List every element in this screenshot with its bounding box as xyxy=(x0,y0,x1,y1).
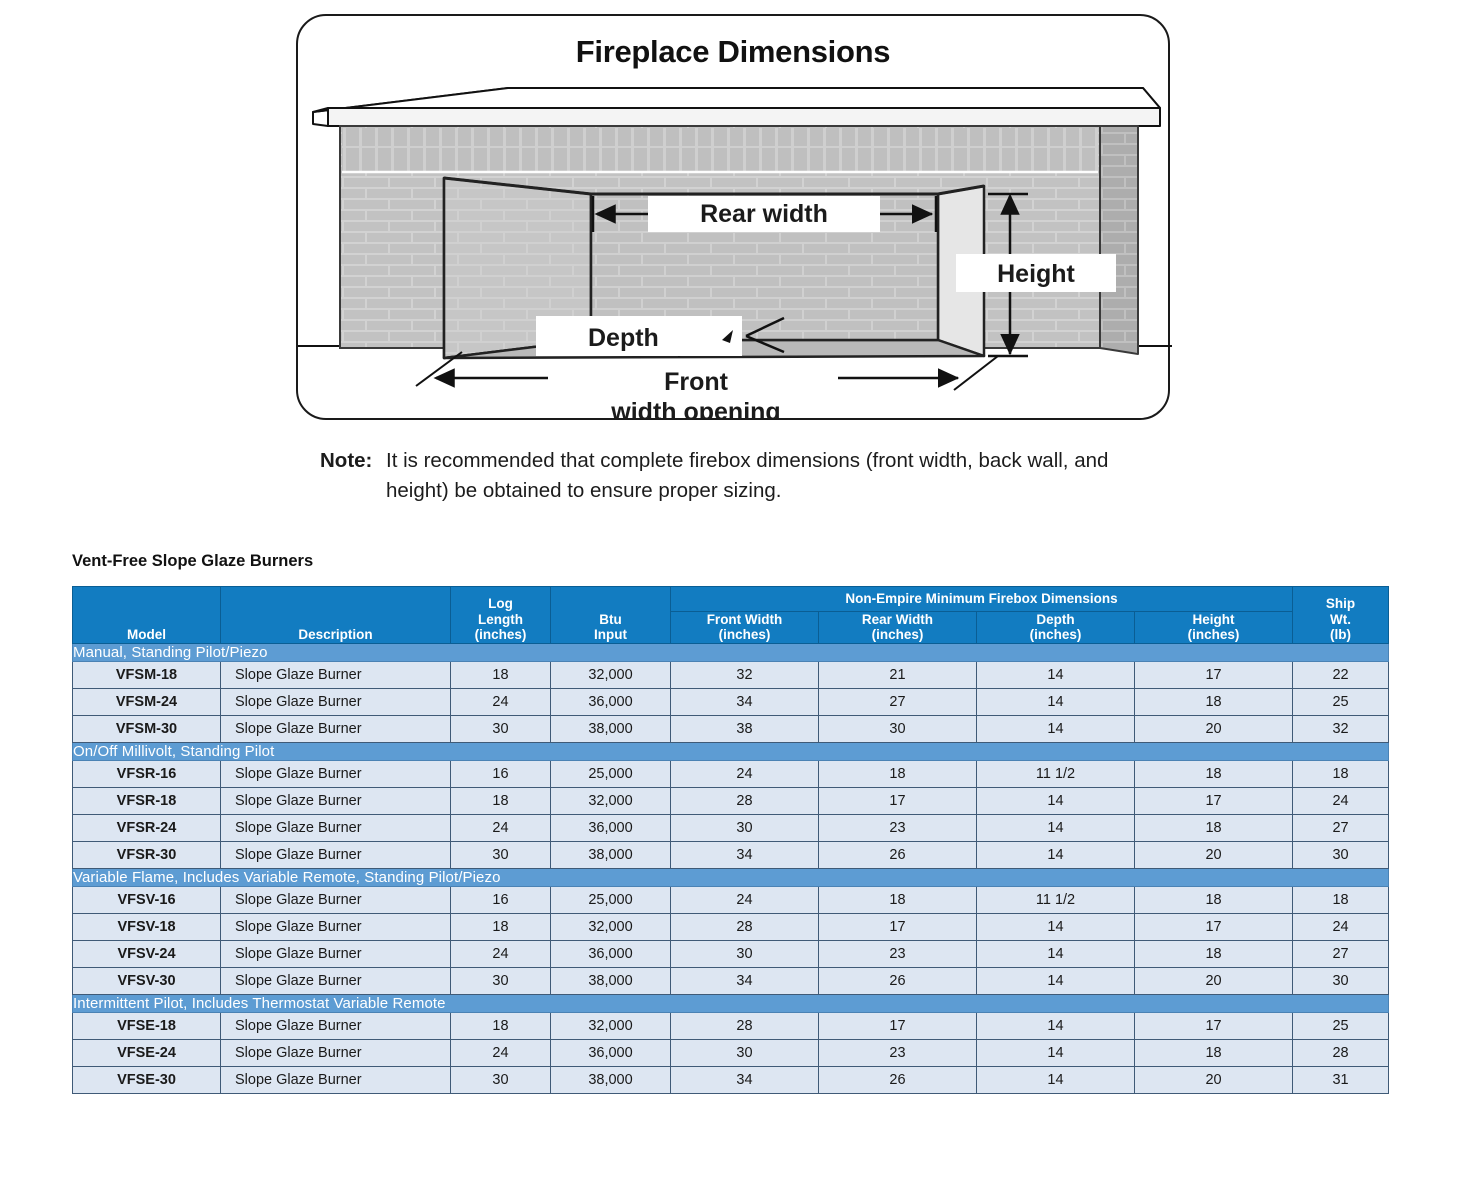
fireplace-svg: Rear width Height Depth xyxy=(298,68,1172,420)
cell-model: VFSV-24 xyxy=(73,940,221,967)
col-header-btu-input: Btu Input xyxy=(551,587,671,644)
log-length-line2: Length xyxy=(451,612,550,628)
cell-front-width: 34 xyxy=(671,1066,819,1093)
cell-depth: 14 xyxy=(977,661,1135,688)
cell-ship-wt: 30 xyxy=(1293,967,1389,994)
cell-front-width: 34 xyxy=(671,967,819,994)
note-label: Note: xyxy=(320,446,386,476)
cell-log-length: 18 xyxy=(451,787,551,814)
cell-description: Slope Glaze Burner xyxy=(221,886,451,913)
cell-front-width: 30 xyxy=(671,814,819,841)
cell-height: 17 xyxy=(1135,1012,1293,1039)
vent-free-slope-glaze-burners-table: Model Description Log Length (inches) Bt… xyxy=(72,586,1389,1094)
cell-height: 20 xyxy=(1135,1066,1293,1093)
col-header-height: Height (inches) xyxy=(1135,611,1293,643)
cell-log-length: 30 xyxy=(451,1066,551,1093)
cell-model: VFSE-30 xyxy=(73,1066,221,1093)
col-header-rear-width: Rear Width (inches) xyxy=(819,611,977,643)
cell-log-length: 24 xyxy=(451,940,551,967)
cell-height: 18 xyxy=(1135,814,1293,841)
cell-front-width: 38 xyxy=(671,715,819,742)
cell-model: VFSR-16 xyxy=(73,760,221,787)
cell-depth: 14 xyxy=(977,688,1135,715)
btu-line2: Input xyxy=(551,627,670,643)
cell-description: Slope Glaze Burner xyxy=(221,940,451,967)
cell-height: 18 xyxy=(1135,940,1293,967)
cell-description: Slope Glaze Burner xyxy=(221,1066,451,1093)
cell-btu: 38,000 xyxy=(551,1066,671,1093)
table-row: VFSR-30Slope Glaze Burner3038,0003426142… xyxy=(73,841,1389,868)
cell-model: VFSE-18 xyxy=(73,1012,221,1039)
cell-description: Slope Glaze Burner xyxy=(221,814,451,841)
cell-rear-width: 26 xyxy=(819,841,977,868)
cell-log-length: 24 xyxy=(451,814,551,841)
cell-log-length: 30 xyxy=(451,967,551,994)
cell-rear-width: 23 xyxy=(819,940,977,967)
cell-height: 17 xyxy=(1135,661,1293,688)
cell-btu: 38,000 xyxy=(551,715,671,742)
cell-depth: 14 xyxy=(977,967,1135,994)
cell-btu: 32,000 xyxy=(551,913,671,940)
cell-front-width: 24 xyxy=(671,760,819,787)
front-width-dimension: Front width opening xyxy=(416,352,998,420)
cell-btu: 36,000 xyxy=(551,688,671,715)
cell-height: 17 xyxy=(1135,913,1293,940)
table-row: VFSM-18Slope Glaze Burner1832,0003221141… xyxy=(73,661,1389,688)
cell-ship-wt: 27 xyxy=(1293,814,1389,841)
cell-log-length: 18 xyxy=(451,913,551,940)
cell-rear-width: 17 xyxy=(819,787,977,814)
cell-height: 18 xyxy=(1135,760,1293,787)
cell-btu: 32,000 xyxy=(551,1012,671,1039)
cell-rear-width: 26 xyxy=(819,967,977,994)
cell-front-width: 28 xyxy=(671,913,819,940)
cell-log-length: 24 xyxy=(451,688,551,715)
cell-btu: 36,000 xyxy=(551,940,671,967)
cell-depth: 11 1/2 xyxy=(977,886,1135,913)
cell-model: VFSM-24 xyxy=(73,688,221,715)
cell-btu: 32,000 xyxy=(551,661,671,688)
cell-height: 18 xyxy=(1135,886,1293,913)
cell-ship-wt: 30 xyxy=(1293,841,1389,868)
cell-log-length: 18 xyxy=(451,1012,551,1039)
group-header-row: Manual, Standing Pilot/Piezo xyxy=(73,643,1389,661)
cell-rear-width: 17 xyxy=(819,913,977,940)
cell-description: Slope Glaze Burner xyxy=(221,688,451,715)
cell-front-width: 28 xyxy=(671,787,819,814)
cell-height: 20 xyxy=(1135,715,1293,742)
cell-ship-wt: 27 xyxy=(1293,940,1389,967)
table-row: VFSE-18Slope Glaze Burner1832,0002817141… xyxy=(73,1012,1389,1039)
cell-log-length: 30 xyxy=(451,715,551,742)
front-width-label-line2: width opening xyxy=(610,398,780,420)
group-header-row: Intermittent Pilot, Includes Thermostat … xyxy=(73,994,1389,1012)
mantel-shelf xyxy=(313,88,1160,126)
ship-line3: (lb) xyxy=(1293,627,1388,643)
cell-ship-wt: 24 xyxy=(1293,913,1389,940)
note-text: It is recommended that complete firebox … xyxy=(386,446,1176,506)
cell-ship-wt: 28 xyxy=(1293,1039,1389,1066)
table-head: Model Description Log Length (inches) Bt… xyxy=(73,587,1389,644)
cell-description: Slope Glaze Burner xyxy=(221,760,451,787)
cell-rear-width: 23 xyxy=(819,814,977,841)
cell-depth: 14 xyxy=(977,1066,1135,1093)
cell-ship-wt: 25 xyxy=(1293,1012,1389,1039)
height-line2: (inches) xyxy=(1135,627,1292,643)
diagram-title: Fireplace Dimensions xyxy=(298,34,1168,70)
cell-log-length: 16 xyxy=(451,760,551,787)
front-width-line1: Front Width xyxy=(671,612,818,628)
cell-log-length: 24 xyxy=(451,1039,551,1066)
log-length-line1: Log xyxy=(451,596,550,612)
cell-btu: 36,000 xyxy=(551,814,671,841)
cell-depth: 14 xyxy=(977,913,1135,940)
table-caption: Vent-Free Slope Glaze Burners xyxy=(72,552,313,571)
table-row: VFSR-18Slope Glaze Burner1832,0002817141… xyxy=(73,787,1389,814)
cell-model: VFSR-24 xyxy=(73,814,221,841)
cell-height: 17 xyxy=(1135,787,1293,814)
cell-description: Slope Glaze Burner xyxy=(221,715,451,742)
cell-log-length: 16 xyxy=(451,886,551,913)
cell-ship-wt: 18 xyxy=(1293,886,1389,913)
table-row: VFSM-24Slope Glaze Burner2436,0003427141… xyxy=(73,688,1389,715)
col-header-description: Description xyxy=(221,587,451,644)
cell-btu: 38,000 xyxy=(551,841,671,868)
cell-btu: 36,000 xyxy=(551,1039,671,1066)
table-row: VFSV-16Slope Glaze Burner1625,000241811 … xyxy=(73,886,1389,913)
cell-description: Slope Glaze Burner xyxy=(221,787,451,814)
col-header-firebox-dimensions-group: Non-Empire Minimum Firebox Dimensions xyxy=(671,587,1293,612)
cell-front-width: 24 xyxy=(671,886,819,913)
cell-rear-width: 26 xyxy=(819,1066,977,1093)
cell-model: VFSE-24 xyxy=(73,1039,221,1066)
cell-ship-wt: 24 xyxy=(1293,787,1389,814)
cell-description: Slope Glaze Burner xyxy=(221,1012,451,1039)
cell-model: VFSV-18 xyxy=(73,913,221,940)
fireplace-illustration: Rear width Height Depth xyxy=(298,68,1172,420)
cell-model: VFSV-16 xyxy=(73,886,221,913)
cell-btu: 38,000 xyxy=(551,967,671,994)
cell-height: 20 xyxy=(1135,841,1293,868)
cell-depth: 11 1/2 xyxy=(977,760,1135,787)
header-row-top: Model Description Log Length (inches) Bt… xyxy=(73,587,1389,612)
table-row: VFSV-30Slope Glaze Burner3038,0003426142… xyxy=(73,967,1389,994)
cell-front-width: 34 xyxy=(671,688,819,715)
note-block: Note:It is recommended that complete fir… xyxy=(320,446,1200,506)
rear-width-label: Rear width xyxy=(700,200,828,228)
rear-width-line2: (inches) xyxy=(819,627,976,643)
cell-btu: 25,000 xyxy=(551,886,671,913)
cell-rear-width: 27 xyxy=(819,688,977,715)
table-row: VFSM-30Slope Glaze Burner3038,0003830142… xyxy=(73,715,1389,742)
cell-front-width: 34 xyxy=(671,841,819,868)
ship-line1: Ship xyxy=(1293,596,1388,612)
cell-btu: 25,000 xyxy=(551,760,671,787)
cell-description: Slope Glaze Burner xyxy=(221,841,451,868)
depth-line2: (inches) xyxy=(977,627,1134,643)
table-body: Manual, Standing Pilot/PiezoVFSM-18Slope… xyxy=(73,643,1389,1093)
cell-description: Slope Glaze Burner xyxy=(221,967,451,994)
cell-depth: 14 xyxy=(977,787,1135,814)
cell-depth: 14 xyxy=(977,841,1135,868)
cell-model: VFSR-18 xyxy=(73,787,221,814)
cell-btu: 32,000 xyxy=(551,787,671,814)
cell-log-length: 18 xyxy=(451,661,551,688)
cell-model: VFSM-30 xyxy=(73,715,221,742)
cell-height: 18 xyxy=(1135,1039,1293,1066)
cell-description: Slope Glaze Burner xyxy=(221,913,451,940)
fireplace-dimensions-panel: Fireplace Dimensions xyxy=(296,14,1170,420)
col-header-log-length: Log Length (inches) xyxy=(451,587,551,644)
cell-ship-wt: 22 xyxy=(1293,661,1389,688)
group-title: Variable Flame, Includes Variable Remote… xyxy=(73,868,1389,886)
cell-model: VFSV-30 xyxy=(73,967,221,994)
cell-log-length: 30 xyxy=(451,841,551,868)
group-header-row: Variable Flame, Includes Variable Remote… xyxy=(73,868,1389,886)
cell-rear-width: 17 xyxy=(819,1012,977,1039)
cell-height: 18 xyxy=(1135,688,1293,715)
group-title: Intermittent Pilot, Includes Thermostat … xyxy=(73,994,1389,1012)
group-header-row: On/Off Millivolt, Standing Pilot xyxy=(73,742,1389,760)
log-length-line3: (inches) xyxy=(451,627,550,643)
table-row: VFSR-24Slope Glaze Burner2436,0003023141… xyxy=(73,814,1389,841)
table-row: VFSV-24Slope Glaze Burner2436,0003023141… xyxy=(73,940,1389,967)
cell-description: Slope Glaze Burner xyxy=(221,1039,451,1066)
cell-height: 20 xyxy=(1135,967,1293,994)
cell-rear-width: 18 xyxy=(819,886,977,913)
cell-front-width: 28 xyxy=(671,1012,819,1039)
cell-ship-wt: 18 xyxy=(1293,760,1389,787)
group-title: Manual, Standing Pilot/Piezo xyxy=(73,643,1389,661)
cell-front-width: 32 xyxy=(671,661,819,688)
rear-width-line1: Rear Width xyxy=(819,612,976,628)
cell-front-width: 30 xyxy=(671,940,819,967)
cell-depth: 14 xyxy=(977,715,1135,742)
cell-ship-wt: 31 xyxy=(1293,1066,1389,1093)
cell-rear-width: 21 xyxy=(819,661,977,688)
col-header-depth: Depth (inches) xyxy=(977,611,1135,643)
group-title: On/Off Millivolt, Standing Pilot xyxy=(73,742,1389,760)
cell-rear-width: 23 xyxy=(819,1039,977,1066)
cell-model: VFSR-30 xyxy=(73,841,221,868)
table-row: VFSE-24Slope Glaze Burner2436,0003023141… xyxy=(73,1039,1389,1066)
depth-label: Depth xyxy=(588,324,659,352)
cell-depth: 14 xyxy=(977,940,1135,967)
cell-ship-wt: 32 xyxy=(1293,715,1389,742)
cell-rear-width: 18 xyxy=(819,760,977,787)
cell-depth: 14 xyxy=(977,814,1135,841)
cell-depth: 14 xyxy=(977,1039,1135,1066)
col-header-model: Model xyxy=(73,587,221,644)
front-width-label-line1: Front xyxy=(664,368,729,396)
cell-front-width: 30 xyxy=(671,1039,819,1066)
cell-rear-width: 30 xyxy=(819,715,977,742)
height-line1: Height xyxy=(1135,612,1292,628)
depth-line1: Depth xyxy=(977,612,1134,628)
front-width-line2: (inches) xyxy=(671,627,818,643)
height-label: Height xyxy=(997,260,1075,288)
col-header-ship-weight: Ship Wt. (lb) xyxy=(1293,587,1389,644)
cell-ship-wt: 25 xyxy=(1293,688,1389,715)
table-row: VFSV-18Slope Glaze Burner1832,0002817141… xyxy=(73,913,1389,940)
table-row: VFSE-30Slope Glaze Burner3038,0003426142… xyxy=(73,1066,1389,1093)
btu-line1: Btu xyxy=(551,612,670,628)
table-row: VFSR-16Slope Glaze Burner1625,000241811 … xyxy=(73,760,1389,787)
cell-description: Slope Glaze Burner xyxy=(221,661,451,688)
cell-depth: 14 xyxy=(977,1012,1135,1039)
col-header-front-width: Front Width (inches) xyxy=(671,611,819,643)
ship-line2: Wt. xyxy=(1293,612,1388,628)
cell-model: VFSM-18 xyxy=(73,661,221,688)
